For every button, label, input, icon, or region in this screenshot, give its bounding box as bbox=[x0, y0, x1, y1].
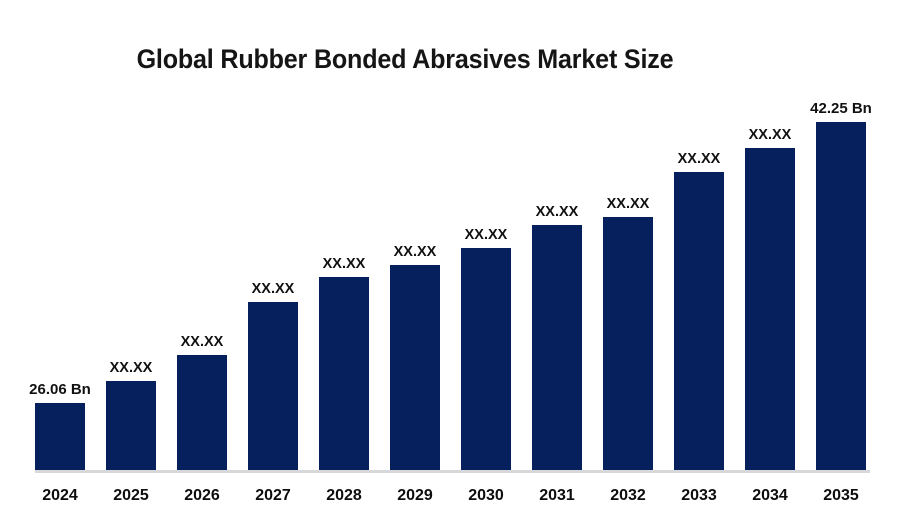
bar-value-label: XX.XX bbox=[323, 256, 366, 272]
bar-rect[interactable] bbox=[674, 172, 724, 470]
bar-rect[interactable] bbox=[461, 248, 511, 470]
axis-tick-label-2032: 2032 bbox=[603, 487, 653, 505]
bar-value-label: XX.XX bbox=[181, 334, 224, 350]
bar-value-label: XX.XX bbox=[536, 204, 579, 220]
bar-rect[interactable] bbox=[745, 148, 795, 470]
bar-rect[interactable] bbox=[248, 302, 298, 470]
axis-tick-label-2035: 2035 bbox=[816, 487, 866, 505]
axis-tick-label-2027: 2027 bbox=[248, 487, 298, 505]
bar-value-label: XX.XX bbox=[678, 151, 721, 167]
bar-rect[interactable] bbox=[106, 381, 156, 470]
axis-tick-label-2026: 2026 bbox=[177, 487, 227, 505]
bar-rect[interactable] bbox=[35, 403, 85, 470]
bar-value-label: XX.XX bbox=[465, 227, 508, 243]
bar-value-label: XX.XX bbox=[394, 244, 437, 260]
plot-area: 26.06 Bn XX.XX XX.XX XX.XX XX.XX XX.XX bbox=[0, 0, 900, 525]
bar-rect[interactable] bbox=[603, 217, 653, 470]
bar-rect[interactable] bbox=[390, 265, 440, 470]
axis-tick-label-2030: 2030 bbox=[461, 487, 511, 505]
axis-tick-label-2031: 2031 bbox=[532, 487, 582, 505]
bar-value-label: XX.XX bbox=[252, 281, 295, 297]
bar-value-label: XX.XX bbox=[749, 127, 792, 143]
axis-tick-label-2033: 2033 bbox=[674, 487, 724, 505]
bar-rect[interactable] bbox=[532, 225, 582, 470]
bar-rect[interactable] bbox=[177, 355, 227, 470]
axis-tick-label-2029: 2029 bbox=[390, 487, 440, 505]
axis-baseline bbox=[35, 470, 870, 473]
bar-value-label: XX.XX bbox=[110, 360, 153, 376]
bar-rect[interactable] bbox=[319, 277, 369, 470]
axis-tick-label-2025: 2025 bbox=[106, 487, 156, 505]
bar-value-label: XX.XX bbox=[607, 196, 650, 212]
bar-chart: Global Rubber Bonded Abrasives Market Si… bbox=[0, 0, 900, 525]
bar-value-label: 42.25 Bn bbox=[810, 100, 872, 117]
bar-rect[interactable] bbox=[816, 122, 866, 470]
axis-tick-label-2024: 2024 bbox=[35, 487, 85, 505]
axis-tick-label-2028: 2028 bbox=[319, 487, 369, 505]
bar-value-label: 26.06 Bn bbox=[29, 381, 91, 398]
axis-tick-label-2034: 2034 bbox=[745, 487, 795, 505]
